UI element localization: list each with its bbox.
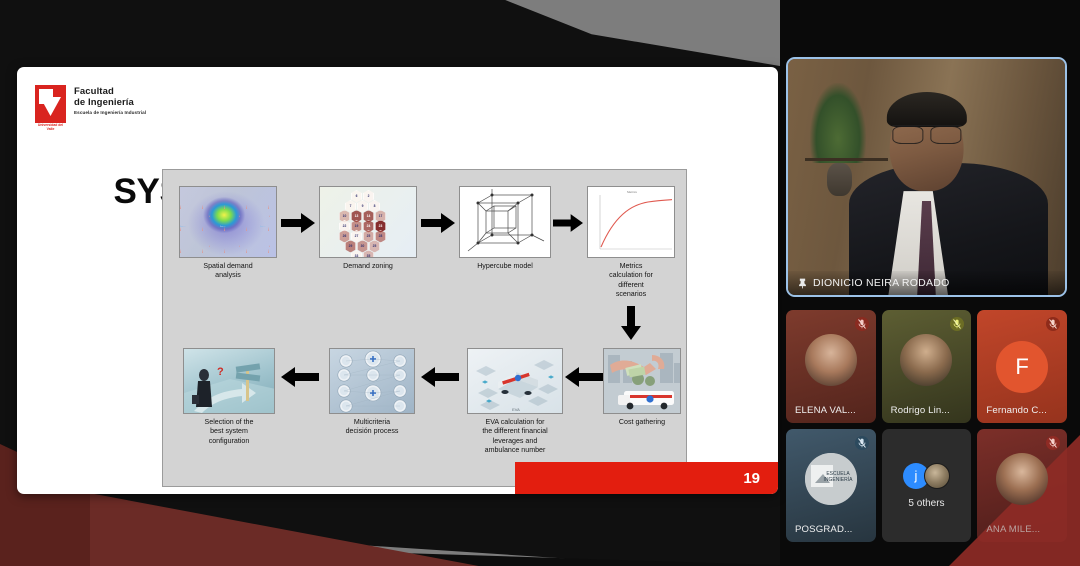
- speaker-video-frame: [788, 59, 1065, 295]
- avatar: [996, 453, 1048, 505]
- others-avatar-stack: j: [903, 463, 950, 489]
- mic-off-icon[interactable]: [1046, 436, 1060, 450]
- diagram-node-label: Cost gathering: [603, 418, 681, 427]
- speaker-name: DIONICIO NEIRA RODADO: [813, 277, 950, 289]
- arrow-right-1: [281, 212, 315, 234]
- metrics-line-chart-image: Metrics: [587, 186, 675, 258]
- avatar: [900, 334, 952, 386]
- svg-text:?: ?: [217, 366, 224, 378]
- svg-text:EVA: EVA: [512, 407, 520, 412]
- svg-text:Metrics: Metrics: [627, 190, 637, 194]
- mic-off-icon[interactable]: [855, 436, 869, 450]
- logo-text-block: Facultad de Ingeniería Escuela de Ingeni…: [74, 85, 146, 115]
- logo-faculty-line2: de Ingeniería: [74, 97, 146, 108]
- arrow-right-2: [421, 212, 455, 234]
- others-content: j 5 others: [882, 429, 972, 542]
- mic-off-icon[interactable]: [855, 317, 869, 331]
- diagram-node-spatial-demand-analysis: Spatial demand analysis: [179, 186, 277, 281]
- participant-name: Rodrigo Lin...: [891, 405, 950, 416]
- diagram-node-label: Selection of the best system configurati…: [183, 418, 275, 446]
- hypercube-model-image: [459, 186, 551, 258]
- logo-institution-label: Universidad del Valle: [35, 123, 66, 132]
- others-count-label: 5 others: [908, 498, 944, 509]
- diagram-node-multicriteria-decision: Multicriteria decisión process: [329, 348, 415, 437]
- demand-zoning-hexmap-image: 627981013141722192423262725282930253335: [319, 186, 417, 258]
- diagram-node-hypercube-model: Hypercube model: [459, 186, 551, 271]
- participant-name: Fernando C...: [986, 405, 1047, 416]
- avatar: [805, 334, 857, 386]
- diagram-node-label: Hypercube model: [459, 262, 551, 271]
- participant-tile-fernando[interactable]: F Fernando C...: [977, 310, 1067, 423]
- arrow-right-3: [553, 212, 583, 234]
- participant-tile-others[interactable]: j 5 others: [882, 429, 972, 542]
- methodology-diagram: Spatial demand analysis 6279810131417221…: [162, 169, 687, 487]
- participant-name: POSGRAD...: [795, 524, 852, 535]
- pin-icon: [798, 278, 807, 289]
- participant-tile-elena[interactable]: ELENA VAL...: [786, 310, 876, 423]
- participant-tile-rodrigo[interactable]: Rodrigo Lin...: [882, 310, 972, 423]
- participant-tile-posgrado[interactable]: ESCUELAINGENIERÍA POSGRAD...: [786, 429, 876, 542]
- diagram-node-label: EVA calculation for the different financ…: [467, 418, 563, 455]
- criteria-network-image: [329, 348, 415, 414]
- spatial-demand-heatmap-image: [179, 186, 277, 258]
- mic-off-icon[interactable]: [1046, 317, 1060, 331]
- meeting-screen-share-view: Universidad del Valle Facultad de Ingeni…: [0, 0, 1080, 566]
- money-ambulance-image: [603, 348, 681, 414]
- avatar-initial: F: [996, 341, 1048, 393]
- diagram-node-demand-zoning: 627981013141722192423262725282930253335 …: [319, 186, 417, 271]
- diagram-node-label: Multicriteria decisión process: [329, 418, 415, 437]
- arrow-left-2: [421, 366, 459, 388]
- diagram-node-label: Demand zoning: [319, 262, 417, 271]
- svg-text:INGENIERÍA: INGENIERÍA: [823, 476, 853, 483]
- shared-slide[interactable]: Universidad del Valle Facultad de Ingeni…: [17, 67, 778, 494]
- univalle-logo-mark: Universidad del Valle: [35, 85, 66, 123]
- diagram-node-eva-calculation: EVA EVA calculation for the different fi…: [467, 348, 563, 455]
- participant-name: ANA MILE...: [986, 524, 1040, 535]
- isometric-ambulance-image: EVA: [467, 348, 563, 414]
- mic-off-icon[interactable]: [950, 317, 964, 331]
- speaker-name-bar: DIONICIO NEIRA RODADO: [788, 271, 1065, 295]
- diagram-node-metrics-calculation: Metrics Metrics calculation for differen…: [587, 186, 675, 299]
- logo-school-label: Escuela de Ingeniería Industrial: [74, 110, 146, 115]
- diagram-node-label: Spatial demand analysis: [179, 262, 277, 281]
- diagram-node-best-system-configuration: ? Selection of the best system configura…: [183, 348, 275, 446]
- arrow-left-3: [565, 366, 603, 388]
- avatar: ESCUELAINGENIERÍA: [805, 453, 857, 505]
- active-speaker-tile[interactable]: DIONICIO NEIRA RODADO: [786, 57, 1067, 297]
- university-logo: Universidad del Valle Facultad de Ingeni…: [35, 85, 146, 123]
- arrow-left-1: [281, 366, 319, 388]
- participant-name: ELENA VAL...: [795, 405, 856, 416]
- avatar-photo: [924, 463, 950, 489]
- arrow-down-1: [620, 306, 642, 340]
- diagram-node-cost-gathering: Cost gathering: [603, 348, 681, 427]
- logo-faculty-line1: Facultad: [74, 86, 146, 97]
- decision-signpost-image: ?: [183, 348, 275, 414]
- slide-page-number: 19: [515, 462, 778, 494]
- diagram-node-label: Metrics calculation for different scenar…: [587, 262, 675, 299]
